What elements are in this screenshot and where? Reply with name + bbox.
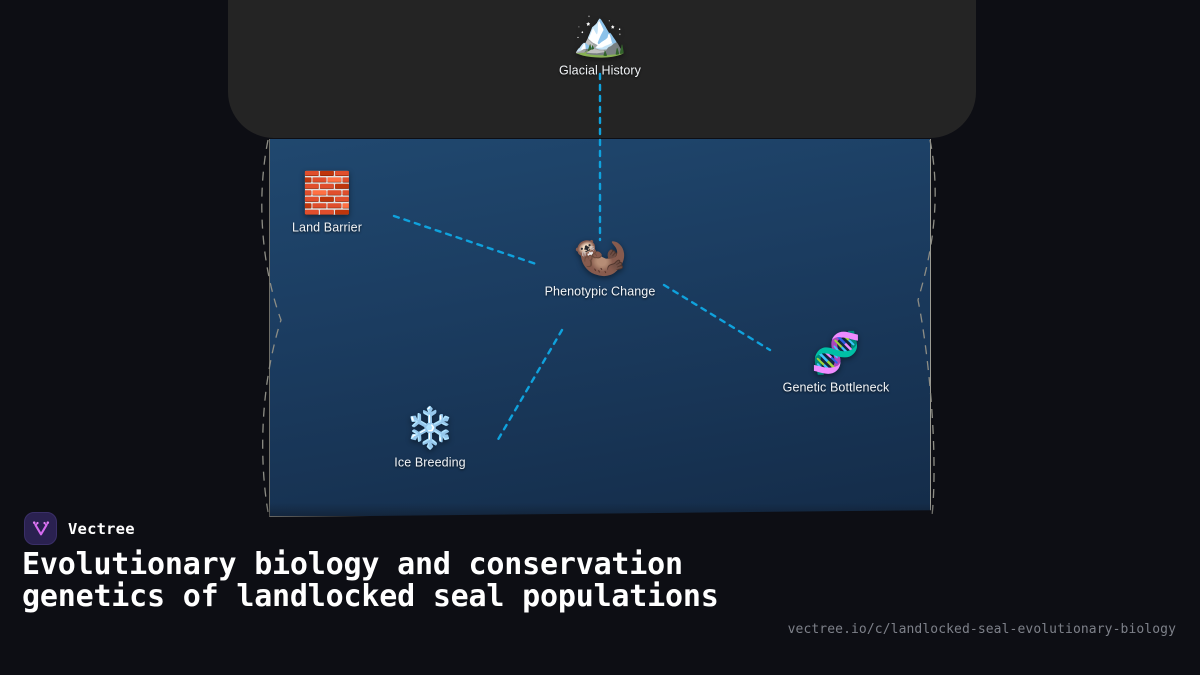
node-label: Glacial History [559,64,641,78]
node-label: Land Barrier [292,221,362,235]
brand-name: Vectree [68,520,135,538]
brick-wall-icon: 🧱 [302,172,352,216]
node-phenotypic-change[interactable]: 🦦 Phenotypic Change [545,232,656,299]
edge-landbarrier-phenotypic [394,216,536,264]
dna-icon: 🧬 [811,332,861,376]
edge-phenotypic-icebreeding [496,330,562,443]
page-title: Evolutionary biology and conservation ge… [22,549,782,613]
node-glacial-history[interactable]: 🏔️ Glacial History [559,11,641,78]
node-label: Ice Breeding [394,456,465,470]
screenshot-root: 🏔️ Glacial History 🧱 Land Barrier 🦦 Phen… [0,0,1200,675]
share-url: vectree.io/c/landlocked-seal-evolutionar… [788,622,1176,637]
node-ice-breeding[interactable]: ❄️ Ice Breeding [394,407,465,470]
brand-lockup: Vectree [24,512,135,545]
mountain-snow-icon: 🏔️ [573,11,628,59]
vectree-logo-icon [24,512,57,545]
node-land-barrier[interactable]: 🧱 Land Barrier [292,172,362,235]
node-label: Phenotypic Change [545,285,656,299]
seal-icon: 🦦 [573,232,628,280]
edge-phenotypic-bottleneck [664,285,770,350]
snowflake-icon: ❄️ [405,407,455,451]
node-genetic-bottleneck[interactable]: 🧬 Genetic Bottleneck [783,332,890,395]
node-label: Genetic Bottleneck [783,381,890,395]
